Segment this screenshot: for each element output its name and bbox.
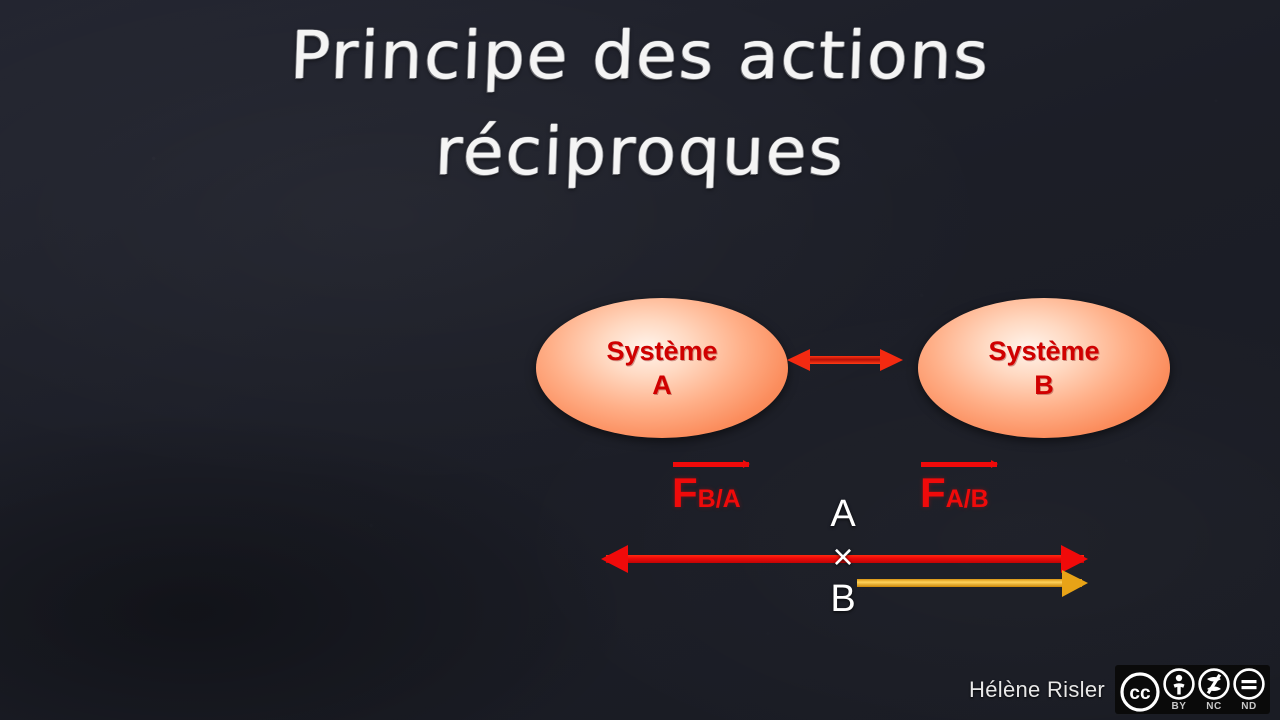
point-label-b: B xyxy=(823,580,863,618)
title-line-1: Principe des actions xyxy=(0,8,1280,104)
interaction-double-arrow-icon xyxy=(786,340,904,380)
point-label-x-contact: × xyxy=(823,538,863,576)
system-b-ellipse: Système B xyxy=(918,298,1170,438)
svg-text:cc: cc xyxy=(1129,683,1151,704)
point-label-a: A xyxy=(823,495,863,533)
creative-commons-badge[interactable]: cc xyxy=(1115,665,1270,714)
gold-arrow-icon xyxy=(857,570,1088,597)
page-title: Principe des actions réciproques xyxy=(0,8,1280,200)
slide-canvas: Principe des actions réciproques Système… xyxy=(0,0,1280,720)
cc-icon: cc xyxy=(1120,672,1160,712)
system-a-id-label: A xyxy=(652,368,672,402)
credit-block: Hélène Risler cc xyxy=(969,665,1270,714)
nd-equals-icon xyxy=(1233,668,1265,700)
cc-caption-nc: NC xyxy=(1198,701,1230,712)
system-b-id-label: B xyxy=(1034,368,1054,402)
force-diagram: FB/A FA/B xyxy=(580,440,1110,640)
by-person-icon xyxy=(1163,668,1195,700)
system-b-name-label: Système xyxy=(988,334,1099,368)
title-line-2: réciproques xyxy=(0,104,1280,200)
cc-caption-nd: ND xyxy=(1233,701,1265,712)
nc-crossed-dollar-icon xyxy=(1198,668,1230,700)
cc-caption-by: BY xyxy=(1163,701,1195,712)
system-a-ellipse: Système A xyxy=(536,298,788,438)
system-a-name-label: Système xyxy=(606,334,717,368)
author-name: Hélène Risler xyxy=(969,677,1105,703)
